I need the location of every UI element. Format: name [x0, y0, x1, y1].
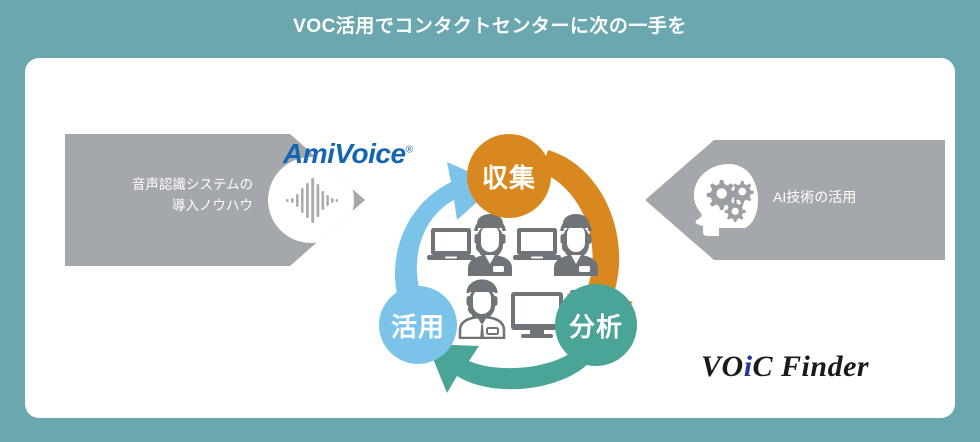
laptop-icon-1 — [427, 228, 475, 260]
content-card: 音声認識システムの 導入ノウハウ — [25, 58, 955, 418]
operator-icon-3 — [460, 280, 504, 338]
voicfinder-i: i — [744, 350, 753, 383]
voicfinder-part2: C Finder — [753, 350, 870, 383]
infographic-root: VOC活用でコンタクトセンターに次の一手を 音声認識システムの 導入ノウハウ — [0, 0, 980, 442]
operator-icon-1 — [468, 214, 512, 276]
right-capability-label: AI技術の活用 — [773, 187, 856, 207]
voc-cycle-diagram: 収集 分析 活用 — [365, 128, 685, 408]
right-capability-chevron: AI技術の活用 — [645, 140, 945, 260]
page-title: VOC活用でコンタクトセンターに次の一手を — [0, 12, 980, 42]
head-with-gears-icon — [687, 162, 765, 238]
voic-finder-logo: VOiC Finder — [701, 350, 869, 384]
cycle-node-collect[interactable]: 収集 — [467, 134, 551, 218]
cycle-node-utilize[interactable]: 活用 — [379, 286, 457, 364]
cycle-node-analyze-label: 分析 — [569, 307, 623, 344]
cycle-node-collect-label: 収集 — [482, 158, 536, 195]
cycle-node-analyze[interactable]: 分析 — [555, 284, 637, 366]
voicfinder-part1: VO — [701, 350, 744, 383]
left-capability-label: 音声認識システムの 導入ノウハウ — [73, 174, 253, 216]
head-with-gears-icon-container — [687, 162, 765, 238]
operator-icon-2 — [554, 214, 598, 276]
laptop-icon-2 — [513, 228, 561, 260]
cycle-node-utilize-label: 活用 — [391, 307, 445, 344]
